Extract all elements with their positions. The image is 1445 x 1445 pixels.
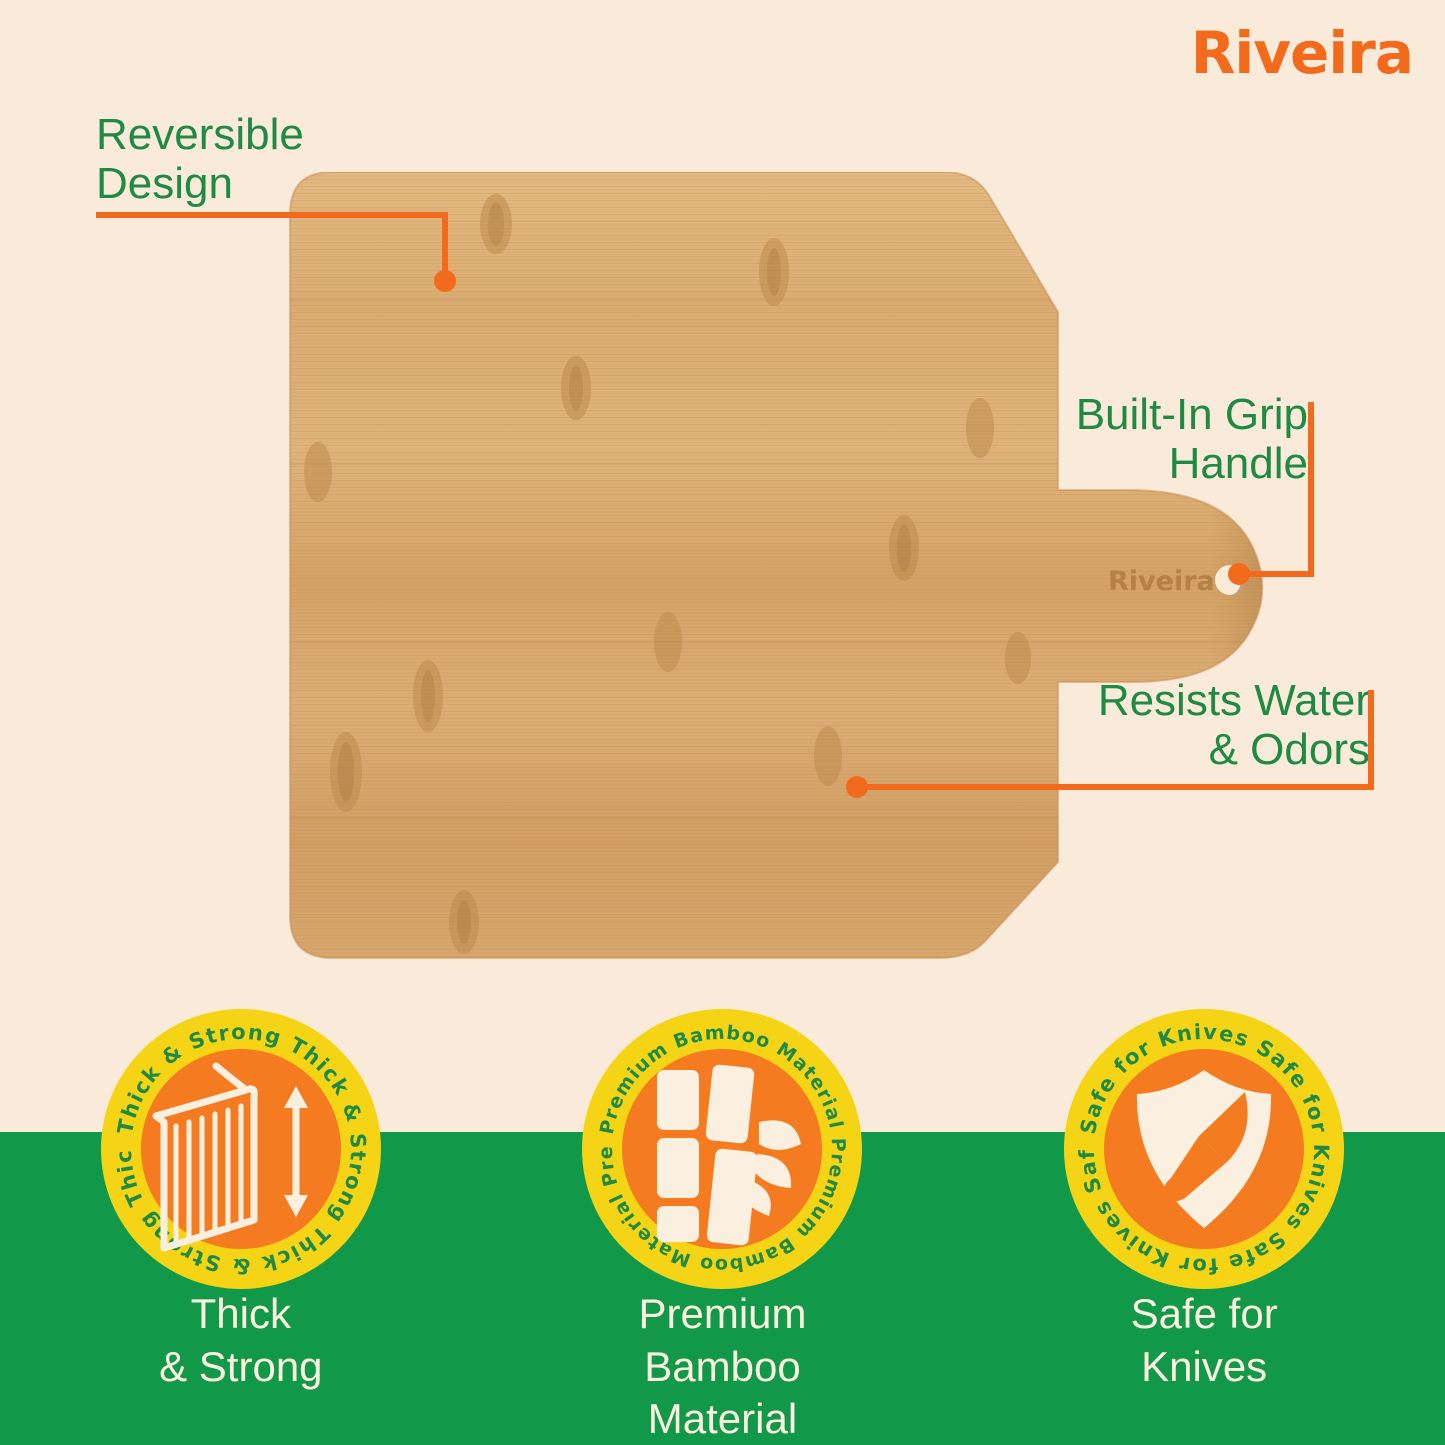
leader-line-reversible-horizontal (96, 212, 448, 218)
feature-badges-row: Thick & Strong Thick & Strong Thick & St… (0, 1004, 1445, 1294)
leader-line-grip-vertical (1308, 402, 1314, 574)
badge-thick-strong: Thick & Strong Thick & Strong Thick & St… (96, 1004, 386, 1294)
callout-built-in-grip-handle: Built-In Grip Handle (1040, 390, 1308, 489)
leader-line-water-horizontal (856, 784, 1374, 790)
caption-premium-bamboo-material: Premium Bamboo Material (557, 1288, 887, 1445)
callout-resists-water-odors: Resists Water & Odors (1010, 676, 1370, 775)
cutting-board-image: Riveira (228, 172, 1274, 962)
infographic-canvas: Riveira (0, 0, 1445, 1445)
leader-line-water-vertical (1368, 690, 1374, 790)
badge-safe-for-knives: Safe for Knives Safe for Knives Safe for… (1059, 1004, 1349, 1294)
leader-dot-reversible (434, 270, 456, 292)
handle-engraving: Riveira (1108, 566, 1215, 597)
caption-safe-for-knives: Safe for Knives (1039, 1288, 1369, 1393)
badge-premium-bamboo-material: Premium Bamboo Material Premium Bamboo M… (577, 1004, 867, 1294)
leader-dot-water (846, 776, 868, 798)
brand-logo: Riveira (1191, 24, 1413, 82)
leader-dot-grip (1228, 563, 1250, 585)
leader-line-grip-horizontal (1244, 571, 1314, 577)
caption-thick-strong: Thick & Strong (76, 1288, 406, 1393)
callout-reversible-design: Reversible Design (96, 110, 304, 209)
feature-captions-row: Thick & Strong Premium Bamboo Material S… (0, 1288, 1445, 1445)
